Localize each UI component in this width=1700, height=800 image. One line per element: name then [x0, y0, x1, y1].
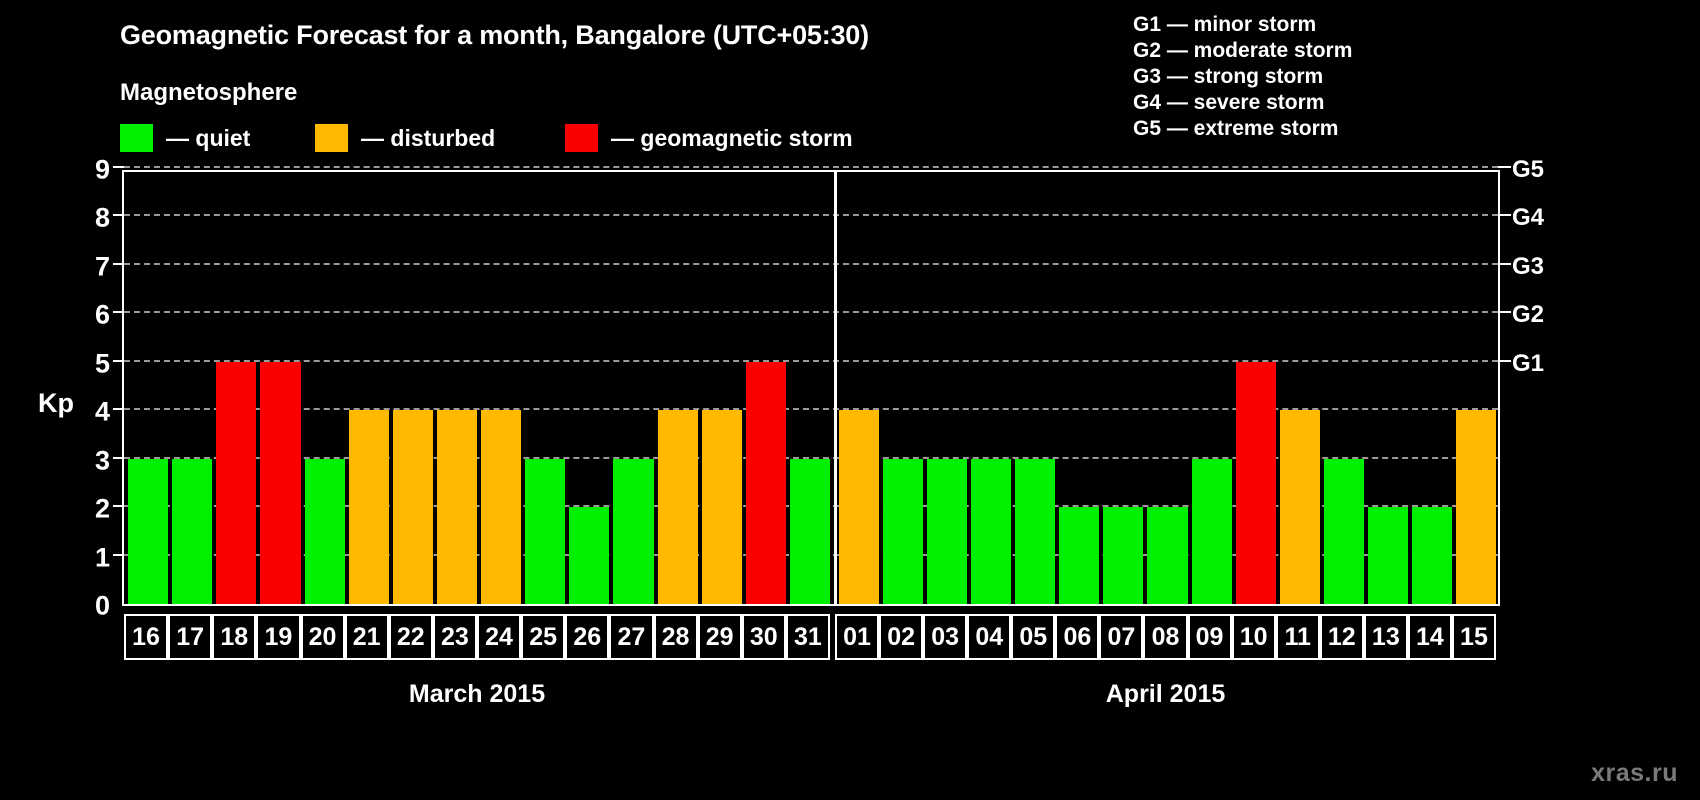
date-cell-label: 04	[975, 625, 1003, 650]
date-cell-label: 24	[485, 625, 513, 650]
date-cell-label: 14	[1416, 625, 1444, 650]
date-cell[interactable]: 13	[1364, 614, 1408, 660]
legend-swatch-icon	[315, 124, 348, 152]
y-tick-1	[113, 554, 124, 556]
y-tick-9	[113, 166, 124, 168]
date-cell[interactable]: 05	[1011, 614, 1055, 660]
bar	[569, 507, 609, 604]
date-cell[interactable]: 04	[967, 614, 1011, 660]
bar	[349, 410, 389, 604]
gridline-kp-9	[124, 166, 1498, 168]
bar	[883, 459, 923, 604]
g-tick-G2	[1498, 311, 1511, 313]
date-cell-label: 09	[1196, 625, 1224, 650]
bar-series	[124, 172, 1498, 604]
date-cell-label: 11	[1284, 625, 1310, 650]
date-cell-label: 27	[618, 625, 646, 650]
g-axis-label-G5: G5	[1512, 156, 1572, 184]
date-cell-label: 23	[441, 625, 469, 650]
bar	[172, 459, 212, 604]
bar	[128, 459, 168, 604]
bar	[971, 459, 1011, 604]
bar	[1015, 459, 1055, 604]
date-cell[interactable]: 02	[879, 614, 923, 660]
y-tick-7	[113, 263, 124, 265]
bar	[1147, 507, 1187, 604]
legend-swatch-icon	[120, 124, 153, 152]
date-cell[interactable]: 01	[835, 614, 879, 660]
bar	[305, 459, 345, 604]
date-cell-label: 29	[706, 625, 734, 650]
g-tick-G1	[1498, 360, 1511, 362]
y-axis-tick-label-4: 4	[78, 397, 110, 428]
chart-root: Geomagnetic Forecast for a month, Bangal…	[0, 0, 1700, 800]
bar	[927, 459, 967, 604]
g-scale-line-1: G1 — minor storm	[1133, 12, 1352, 38]
date-cell[interactable]: 20	[301, 614, 345, 660]
bar	[702, 410, 742, 604]
date-cell-label: 13	[1372, 625, 1400, 650]
bar	[1324, 459, 1364, 604]
bar	[260, 362, 300, 604]
date-cell[interactable]: 24	[477, 614, 521, 660]
y-axis-tick-label-6: 6	[78, 300, 110, 331]
date-cell-label: 07	[1108, 625, 1136, 650]
g-scale-line-5: G5 — extreme storm	[1133, 116, 1352, 142]
date-cell-label: 06	[1063, 625, 1091, 650]
legend-item-1: — disturbed	[315, 124, 495, 152]
g-scale-line-2: G2 — moderate storm	[1133, 38, 1352, 64]
y-tick-6	[113, 311, 124, 313]
bar	[1192, 459, 1232, 604]
date-cell[interactable]: 17	[168, 614, 212, 660]
g-tick-G4	[1498, 214, 1511, 216]
date-cell[interactable]: 07	[1099, 614, 1143, 660]
date-cell[interactable]: 18	[212, 614, 256, 660]
bar	[525, 459, 565, 604]
bar	[1103, 507, 1143, 604]
y-tick-8	[113, 214, 124, 216]
g-axis-label-G1: G1	[1512, 350, 1572, 378]
bar	[481, 410, 521, 604]
bar	[746, 362, 786, 604]
legend-item-label: — disturbed	[361, 125, 495, 152]
date-cell-label: 05	[1019, 625, 1047, 650]
bar	[1236, 362, 1276, 604]
bar	[613, 459, 653, 604]
y-axis-tick-label-2: 2	[78, 494, 110, 525]
date-cell-label: 02	[887, 625, 915, 650]
date-cell-label: 17	[176, 625, 204, 650]
date-cell[interactable]: 28	[654, 614, 698, 660]
date-cell[interactable]: 27	[609, 614, 653, 660]
date-cell[interactable]: 25	[521, 614, 565, 660]
date-cell-label: 18	[220, 625, 248, 650]
g-tick-G3	[1498, 263, 1511, 265]
date-cell[interactable]: 06	[1055, 614, 1099, 660]
date-cell[interactable]: 21	[345, 614, 389, 660]
date-cell[interactable]: 29	[698, 614, 742, 660]
date-cell-label: 01	[843, 625, 871, 650]
bar	[1059, 507, 1099, 604]
month-label-1: April 2015	[1106, 680, 1226, 709]
date-cell[interactable]: 16	[124, 614, 168, 660]
date-cell-label: 19	[265, 625, 293, 650]
date-cell-label: 12	[1328, 625, 1356, 650]
bar	[393, 410, 433, 604]
bar	[216, 362, 256, 604]
y-axis-tick-label-1: 1	[78, 542, 110, 573]
month-label-0: March 2015	[409, 680, 545, 709]
g-axis-label-G2: G2	[1512, 301, 1572, 329]
date-cell-label: 31	[794, 625, 822, 650]
g-tick-G5	[1498, 166, 1511, 168]
bar	[1456, 410, 1496, 604]
legend-item-0: — quiet	[120, 124, 250, 152]
y-axis-tick-label-9: 9	[78, 155, 110, 186]
date-cell-label: 21	[353, 625, 381, 650]
y-tick-5	[113, 360, 124, 362]
y-tick-2	[113, 505, 124, 507]
date-cell-label: 30	[750, 625, 778, 650]
date-cell[interactable]: 14	[1408, 614, 1452, 660]
bar	[839, 410, 879, 604]
plot-area	[122, 170, 1500, 606]
date-cell[interactable]: 10	[1232, 614, 1276, 660]
date-cell[interactable]: 15	[1452, 614, 1496, 660]
page-title: Geomagnetic Forecast for a month, Bangal…	[120, 20, 869, 51]
date-cell[interactable]: 12	[1320, 614, 1364, 660]
bar	[1412, 507, 1452, 604]
date-cell-label: 26	[573, 625, 601, 650]
date-cell-label: 10	[1240, 625, 1268, 650]
legend-swatch-icon	[565, 124, 598, 152]
y-axis-tick-label-8: 8	[78, 203, 110, 234]
g-scale-legend: G1 — minor stormG2 — moderate stormG3 — …	[1133, 12, 1352, 142]
date-cell-label: 25	[529, 625, 557, 650]
date-cell[interactable]: 08	[1143, 614, 1187, 660]
y-axis-tick-label-7: 7	[78, 251, 110, 282]
date-cell[interactable]: 03	[923, 614, 967, 660]
date-cell-label: 03	[931, 625, 959, 650]
date-cell-label: 15	[1460, 625, 1488, 650]
date-cell[interactable]: 09	[1188, 614, 1232, 660]
g-scale-line-3: G3 — strong storm	[1133, 64, 1352, 90]
y-axis-title: Kp	[38, 388, 74, 419]
g-axis-label-G3: G3	[1512, 253, 1572, 281]
watermark: xras.ru	[1591, 759, 1678, 788]
legend-item-label: — geomagnetic storm	[611, 125, 853, 152]
y-axis-tick-label-0: 0	[78, 591, 110, 622]
bar	[437, 410, 477, 604]
date-cell-label: 08	[1152, 625, 1180, 650]
date-cell[interactable]: 23	[433, 614, 477, 660]
bar	[658, 410, 698, 604]
date-cell-label: 20	[309, 625, 337, 650]
date-cell[interactable]: 30	[742, 614, 786, 660]
legend-item-label: — quiet	[166, 125, 250, 152]
date-cell-label: 16	[132, 625, 160, 650]
date-cell[interactable]: 19	[256, 614, 300, 660]
bar	[790, 459, 830, 604]
magnetosphere-label: Magnetosphere	[120, 79, 297, 107]
bar	[1280, 410, 1320, 604]
y-tick-4	[113, 408, 124, 410]
y-tick-3	[113, 457, 124, 459]
legend-item-2: — geomagnetic storm	[565, 124, 853, 152]
month-separator	[834, 170, 837, 606]
date-axis: 1617181920212223242526272829303101020304…	[122, 614, 1500, 660]
g-axis-label-G4: G4	[1512, 204, 1572, 232]
date-cell[interactable]: 26	[565, 614, 609, 660]
date-cell[interactable]: 31	[786, 614, 830, 660]
date-cell[interactable]: 22	[389, 614, 433, 660]
date-cell[interactable]: 11	[1276, 614, 1320, 660]
y-axis-tick-label-3: 3	[78, 445, 110, 476]
y-axis-tick-label-5: 5	[78, 348, 110, 379]
date-cell-label: 28	[662, 625, 690, 650]
g-scale-line-4: G4 — severe storm	[1133, 90, 1352, 116]
date-cell-label: 22	[397, 625, 425, 650]
bar	[1368, 507, 1408, 604]
